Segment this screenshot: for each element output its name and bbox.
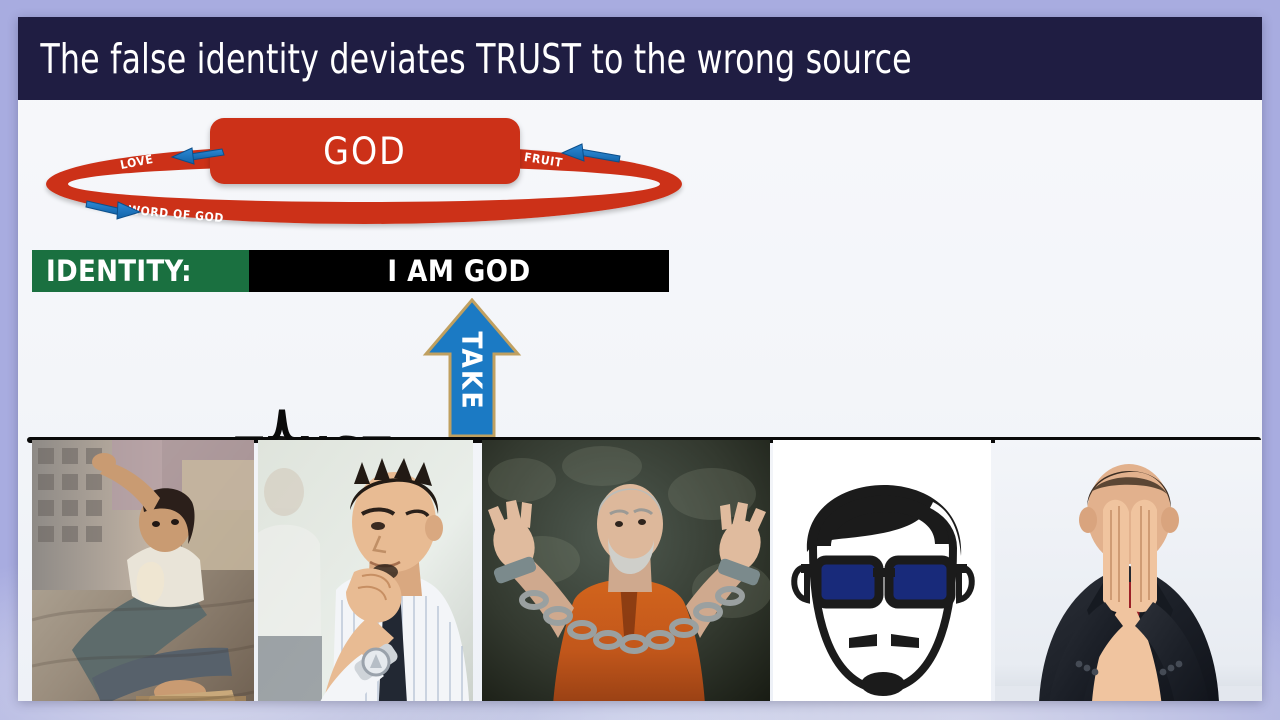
homeless-man-illustration [32, 440, 254, 701]
chained-prisoner-illustration [482, 440, 770, 701]
cycle-arrows [32, 116, 692, 228]
trust-brace [18, 396, 1262, 444]
photo-distressed-man[interactable] [995, 440, 1262, 701]
brace-icon [18, 396, 1262, 444]
identity-key-label: IDENTITY: [32, 250, 249, 292]
slide-canvas: GOD LOVE WORD OF GOD FRUIT [18, 100, 1262, 701]
pensive-businessman-illustration [258, 440, 473, 701]
photo-cartoon-face[interactable] [773, 440, 991, 701]
slide-title-bar: The false identity deviates TRUST to the… [18, 17, 1262, 100]
distressed-man-illustration [995, 440, 1262, 701]
fruit-arrow-icon [562, 144, 620, 162]
word-of-god-arrow-icon [86, 201, 140, 219]
presentation-slide: The false identity deviates TRUST to the… [18, 17, 1262, 701]
photo-homeless-man[interactable] [32, 440, 254, 701]
god-cycle-diagram: GOD LOVE WORD OF GOD FRUIT [32, 116, 692, 228]
identity-value-label: I AM GOD [249, 250, 669, 292]
love-arrow-icon [172, 148, 224, 164]
photo-pensive-businessman[interactable] [258, 440, 473, 701]
cartoon-face-illustration [773, 440, 991, 701]
identity-bar: IDENTITY: I AM GOD [32, 250, 669, 292]
photo-chained-prisoner[interactable] [482, 440, 770, 701]
page-title: The false identity deviates TRUST to the… [18, 35, 912, 83]
photo-strip [18, 440, 1262, 701]
